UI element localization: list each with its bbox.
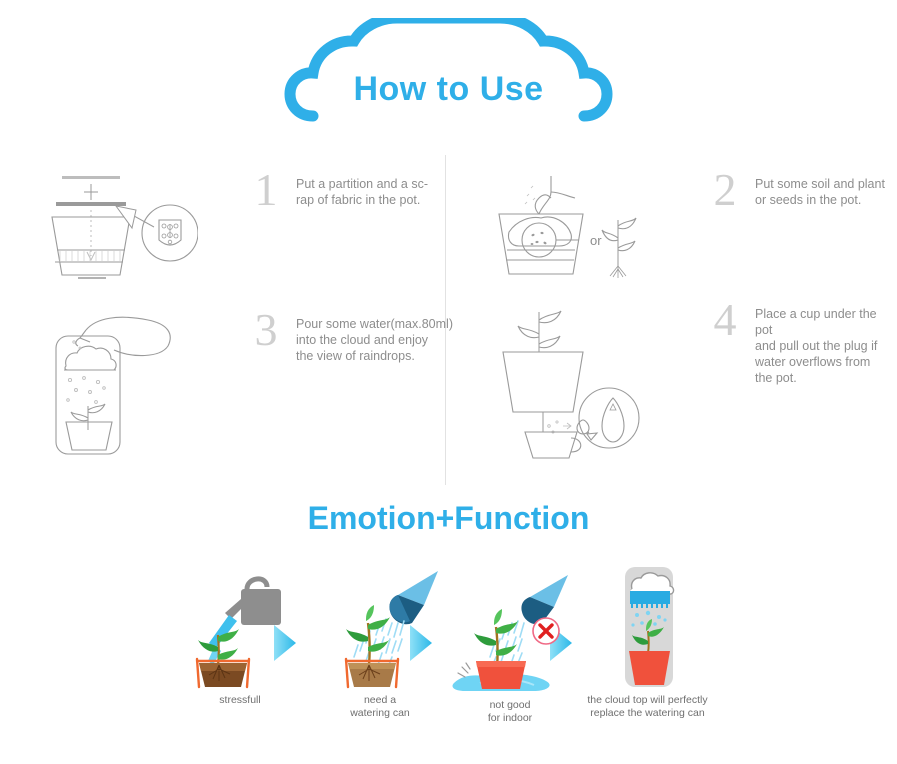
sequence-item-1: stressfull <box>180 565 300 707</box>
step-number: 1 <box>246 170 286 210</box>
steps-section: 1 Put a partition and a sc- rap of fabri… <box>0 150 897 490</box>
or-label: or <box>590 233 602 248</box>
step-4: 4 Place a cup under the pot and pull out… <box>487 300 897 420</box>
step-1: 1 Put a partition and a sc- rap of fabri… <box>28 170 428 290</box>
sequence-caption: not good for indoor <box>450 699 570 725</box>
step-2: or 2 Put some soil and plant or seeds in… <box>487 170 885 290</box>
sequence-item-4: the cloud top will perfectly replace the… <box>575 565 720 720</box>
sequence-caption: stressfull <box>180 694 300 707</box>
watering-spout-over-plant-icon <box>320 565 440 690</box>
pot-over-cup-plug-icon <box>487 300 657 420</box>
step-description: Pour some water(max.80ml) into the cloud… <box>296 310 453 364</box>
step-description: Put a partition and a sc- rap of fabric … <box>296 170 428 208</box>
step-3: 3 Pour some water(max.80ml) into the clo… <box>28 310 453 430</box>
spilled-water-red-pot-icon <box>450 565 570 695</box>
step-number: 4 <box>705 300 745 340</box>
cloud-planter-product-icon <box>575 565 720 690</box>
sequence-caption: need a watering can <box>320 694 440 720</box>
cloud-planter-watering-icon <box>28 310 198 430</box>
sequence-item-3: not good for indoor <box>450 565 570 725</box>
step-description: Place a cup under the pot and pull out t… <box>755 300 897 386</box>
step-number: 3 <box>246 310 286 350</box>
sequence-section: stressfull <box>180 565 720 745</box>
pot-with-soil-or-seedling-icon: or <box>487 170 657 290</box>
emotion-function-title: Emotion+Function <box>0 500 897 537</box>
step-number: 2 <box>705 170 745 210</box>
sequence-caption: the cloud top will perfectly replace the… <box>575 694 720 720</box>
step-description: Put some soil and plant or seeds in the … <box>755 170 885 208</box>
page-title: How to Use <box>0 70 897 109</box>
pot-with-partition-icon <box>28 170 198 290</box>
watering-can-over-plant-icon <box>180 565 300 690</box>
sequence-item-2: need a watering can <box>320 565 440 720</box>
